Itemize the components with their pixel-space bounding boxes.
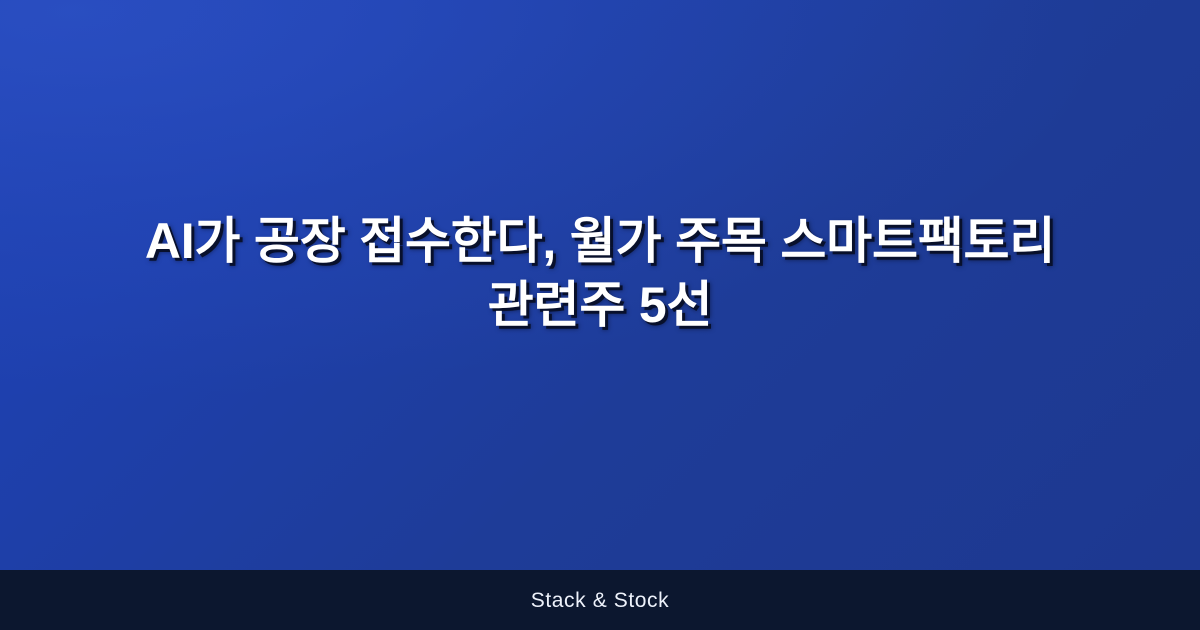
hero-banner: AI가 공장 접수한다, 월가 주목 스마트팩토리 관련주 5선 [0,0,1200,570]
page-title: AI가 공장 접수한다, 월가 주목 스마트팩토리 관련주 5선 [96,209,1104,337]
footer-bar: Stack & Stock [0,570,1200,630]
brand-name: Stack & Stock [531,590,670,611]
social-card: AI가 공장 접수한다, 월가 주목 스마트팩토리 관련주 5선 Stack &… [0,0,1200,630]
title-block: AI가 공장 접수한다, 월가 주목 스마트팩토리 관련주 5선 [80,209,1120,337]
